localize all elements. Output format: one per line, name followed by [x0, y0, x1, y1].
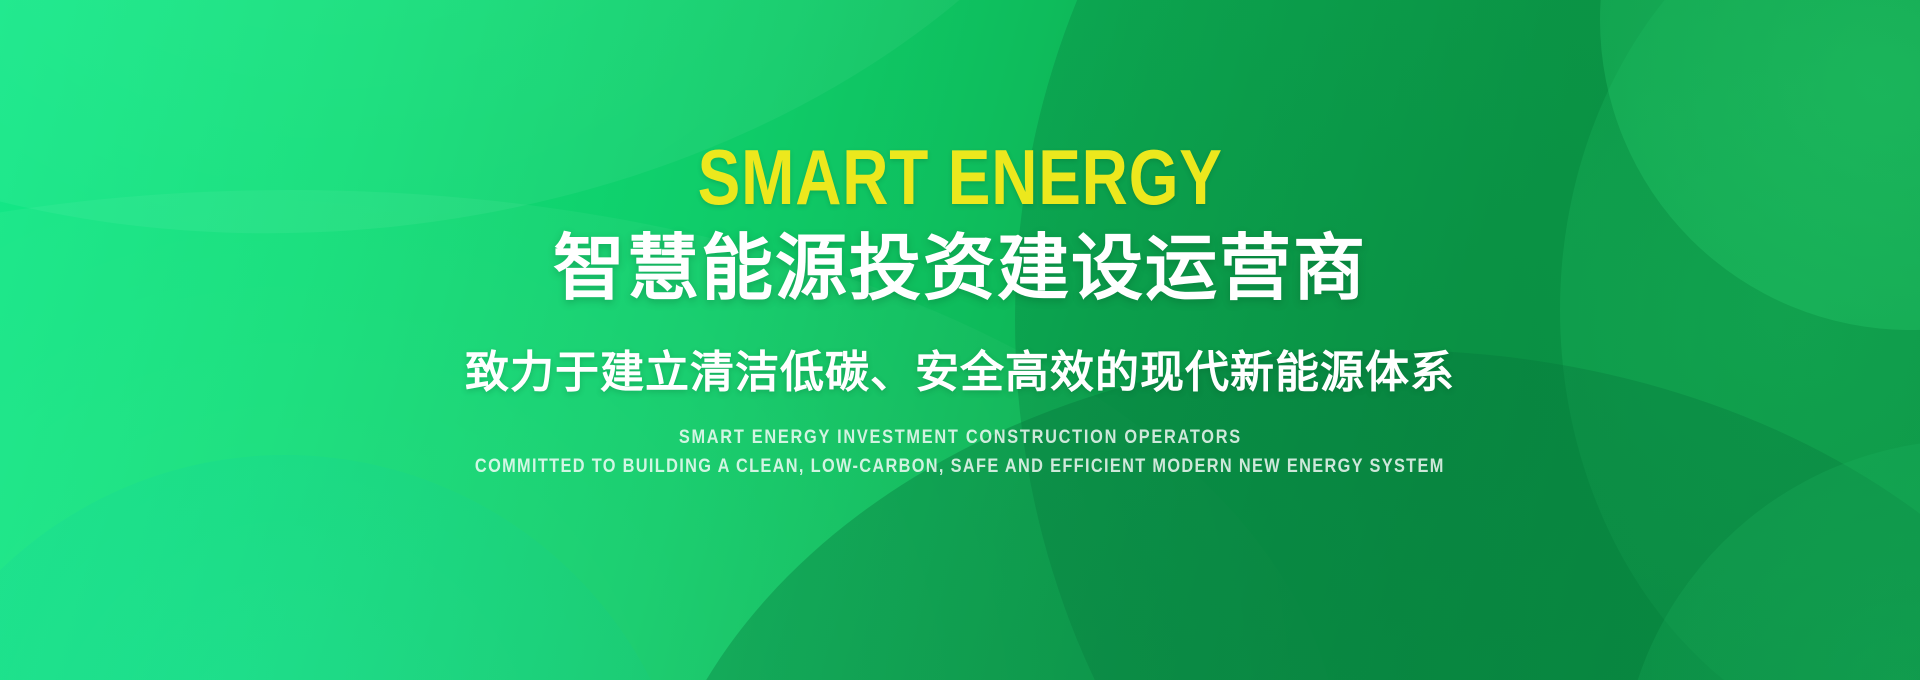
banner-subheadline-chinese: 致力于建立清洁低碳、安全高效的现代新能源体系 [465, 349, 1455, 397]
banner-headline-english: SMART ENERGY [697, 138, 1222, 216]
banner-text-block: SMART ENERGY 智慧能源投资建设运营商 致力于建立清洁低碳、安全高效的… [0, 0, 1920, 680]
hero-banner: SMART ENERGY 智慧能源投资建设运营商 致力于建立清洁低碳、安全高效的… [0, 0, 1920, 680]
banner-tagline-english-secondary: COMMITTED TO BUILDING A CLEAN, LOW-CARBO… [475, 456, 1445, 478]
banner-headline-chinese: 智慧能源投资建设运营商 [553, 232, 1367, 307]
banner-tagline-english-primary: SMART ENERGY INVESTMENT CONSTRUCTION OPE… [678, 427, 1241, 449]
